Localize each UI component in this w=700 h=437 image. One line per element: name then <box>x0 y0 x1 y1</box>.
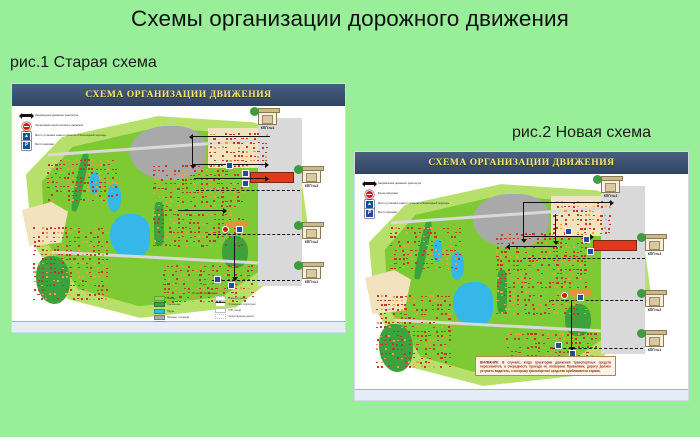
double-arrow-icon <box>365 180 374 187</box>
sign-chip-3 <box>242 180 249 187</box>
map-artwork-old: КПП №4 КПП №3 КПП №2 КПП №1 <box>12 106 345 322</box>
legend-label: Организация одностороннего движения <box>35 124 83 127</box>
gatehouse-icon <box>645 332 664 347</box>
traffic-dash-east-1 <box>196 190 300 191</box>
tree-icon <box>294 261 303 270</box>
map-body-new: КПП №4 КПП №3 КПП №2 КПП №1 <box>355 174 688 390</box>
color-legend-item: Участки <box>154 321 201 322</box>
legend-item: Въезд запрещён <box>365 190 449 198</box>
sign-chip-3 <box>587 248 594 255</box>
figure-caption-new: рис.2 Новая схема <box>512 124 651 142</box>
sign-chip-noentry-1 <box>561 292 568 299</box>
sign-chip-4 <box>577 294 584 301</box>
sign-chip-1 <box>565 228 572 235</box>
map-header-title: СХЕМА ОРГАНИЗАЦИИ ДВИЖЕНИЯ <box>428 158 614 168</box>
houses-southwest <box>375 294 455 368</box>
legend-label: Место парковки <box>378 211 397 214</box>
checkpoint-kpp-1[interactable]: КПП №1 <box>645 332 664 352</box>
map-header-old: СХЕМА ОРГАНИЗАЦИИ ДВИЖЕНИЯ <box>12 84 345 106</box>
traffic-dash-south <box>553 348 643 349</box>
map-legend-old: Направление движения транспорта Организа… <box>22 112 106 151</box>
legend-label: Направление движения транспорта <box>378 182 421 185</box>
checkpoint-label: КПП №1 <box>302 280 321 284</box>
checkpoint-kpp-4[interactable]: КПП №4 <box>601 178 620 198</box>
traffic-arrow-vertical-2 <box>555 214 556 242</box>
tree-icon <box>637 233 646 242</box>
gatehouse-icon <box>302 168 321 183</box>
traffic-arrow-centre <box>509 246 557 247</box>
houses-northwest <box>46 158 120 204</box>
legend-item: Организация одностороннего движения <box>22 122 106 130</box>
gatehouse-icon <box>302 264 321 279</box>
sign-chip-4 <box>236 226 243 233</box>
map-header-new: СХЕМА ОРГАНИЗАЦИИ ДВИЖЕНИЯ <box>355 152 688 174</box>
gatehouse-icon <box>645 236 664 251</box>
color-legend-title: Условные обозначения <box>154 292 256 295</box>
traffic-arrow-north-west <box>192 136 270 137</box>
map-header-title: СХЕМА ОРГАНИЗАЦИИ ДВИЖЕНИЯ <box>85 90 271 100</box>
map-body-old: КПП №4 КПП №3 КПП №2 КПП №1 <box>12 106 345 322</box>
checkpoint-kpp-3[interactable]: КПП №3 <box>302 168 321 188</box>
sign-chip-1 <box>226 162 233 169</box>
legend-item: Направление движения транспорта <box>22 112 106 120</box>
checkpoint-label: КПП №1 <box>645 348 664 352</box>
legend-item: ▲ Место установки знака и разметки «Пеше… <box>365 199 449 207</box>
tree-icon <box>294 221 303 230</box>
pedestrian-crossing-sign-icon: ▲ <box>22 132 31 139</box>
double-arrow-icon <box>22 112 31 119</box>
tree-icon <box>250 107 259 116</box>
legend-label: Место установки знака и разметки «Пешехо… <box>378 201 449 204</box>
pond-large <box>110 214 150 258</box>
color-legend-item: Существующие дороги <box>215 314 255 319</box>
map-panel-old-scheme[interactable]: СХЕМА ОРГАНИЗАЦИИ ДВИЖЕНИЯ <box>12 84 345 332</box>
color-legend-item: Пруды <box>154 309 201 314</box>
presentation-slide: Схемы организации дорожного движения рис… <box>0 0 700 437</box>
gatehouse-icon <box>601 178 620 193</box>
checkpoint-kpp-2[interactable]: КПП №2 <box>302 224 321 244</box>
sign-chip-5 <box>214 276 221 283</box>
map-color-legend: Условные обозначения Газоны Озеленение П… <box>154 292 256 322</box>
gatehouse-icon <box>302 224 321 239</box>
checkpoint-kpp-2[interactable]: КПП №2 <box>645 292 664 312</box>
color-legend-item: КПП, въезд <box>215 308 255 313</box>
traffic-dash-east-2 <box>551 300 643 301</box>
checkpoint-label: КПП №4 <box>258 126 277 130</box>
color-legend-item: Газоны <box>154 296 201 301</box>
tree-icon <box>637 289 646 298</box>
warning-note: ВНИМАНИЕ: В случаях, когда траектории дв… <box>475 356 616 376</box>
color-legend-item: Озеленение <box>154 302 201 307</box>
traffic-arrow-vertical-1 <box>192 136 193 166</box>
traffic-dash-east-1 <box>523 258 645 259</box>
traffic-arrow-mid <box>194 178 266 179</box>
no-entry-sign-icon <box>22 122 31 129</box>
tree-icon <box>294 165 303 174</box>
tree-icon <box>637 329 646 338</box>
map-legend-new: Направление движения транспорта Въезд за… <box>365 180 449 219</box>
checkpoint-label: КПП №3 <box>645 252 664 256</box>
traffic-arrow-mid <box>523 236 591 237</box>
building-service-red <box>593 240 637 251</box>
color-legend-item: Проезды, площадки <box>154 315 201 320</box>
checkpoint-label: КПП №2 <box>302 240 321 244</box>
sign-chip-noentry-1 <box>222 226 229 233</box>
traffic-dash-south <box>212 280 300 281</box>
map-footer-old <box>12 321 345 332</box>
traffic-arrow-vertical-3 <box>571 300 572 348</box>
legend-label: Направление движения транспорта <box>35 114 78 117</box>
warning-note-text: В случаях, когда траектории движения тра… <box>480 360 611 373</box>
legend-label: Въезд запрещён <box>378 192 398 195</box>
color-legend-item: Ограждение территории <box>215 302 255 306</box>
gatehouse-icon <box>645 292 664 307</box>
traffic-arrow-north-east <box>523 202 611 203</box>
legend-item: P Место парковки <box>22 141 106 149</box>
sign-chip-6 <box>228 282 235 289</box>
legend-label: Место парковки <box>35 143 54 146</box>
checkpoint-kpp-4[interactable]: КПП №4 <box>258 110 277 130</box>
parking-sign-icon: P <box>365 209 374 216</box>
sign-chip-2 <box>583 236 590 243</box>
color-legend-column-left: Газоны Озеленение Пруды Проезды, площадк… <box>154 296 201 322</box>
sign-chip-2 <box>242 170 249 177</box>
houses-northwest <box>389 226 463 272</box>
checkpoint-label: КПП №3 <box>302 184 321 188</box>
traffic-dash-east-2 <box>208 234 300 235</box>
gatehouse-icon <box>258 110 277 125</box>
color-legend-item: Граница участка <box>215 296 255 301</box>
tree-icon <box>593 175 602 184</box>
no-entry-sign-icon <box>365 190 374 197</box>
figure-caption-old: рис.1 Старая схема <box>10 54 157 72</box>
checkpoint-kpp-3[interactable]: КПП №3 <box>645 236 664 256</box>
houses-northeast <box>551 200 613 234</box>
map-footer-new <box>355 389 688 400</box>
checkpoint-label: КПП №4 <box>601 194 620 198</box>
page-title: Схемы организации дорожного движения <box>0 6 700 32</box>
houses-southwest <box>32 226 112 300</box>
legend-item: Направление движения транспорта <box>365 180 449 188</box>
pond-large <box>453 282 493 326</box>
traffic-arrow-vertical-1 <box>523 202 524 240</box>
legend-label: Место установки знака и разметки «Пешехо… <box>35 133 106 136</box>
checkpoint-kpp-1[interactable]: КПП №1 <box>302 264 321 284</box>
pedestrian-crossing-sign-icon: ▲ <box>365 200 374 207</box>
color-legend-column-right: Граница участка Ограждение территории КП… <box>215 296 255 322</box>
checkpoint-label: КПП №2 <box>645 308 664 312</box>
traffic-arrow-vertical-2 <box>234 236 235 278</box>
sign-chip-5 <box>555 342 562 349</box>
parking-sign-icon: P <box>22 141 31 148</box>
map-artwork-new: КПП №4 КПП №3 КПП №2 КПП №1 <box>355 174 688 390</box>
traffic-arrow-centre <box>178 210 224 211</box>
legend-item: P Место парковки <box>365 209 449 217</box>
map-panel-new-scheme[interactable]: СХЕМА ОРГАНИЗАЦИИ ДВИЖЕНИЯ <box>355 152 688 400</box>
legend-item: ▲ Место установки знака и разметки «Пеше… <box>22 131 106 139</box>
